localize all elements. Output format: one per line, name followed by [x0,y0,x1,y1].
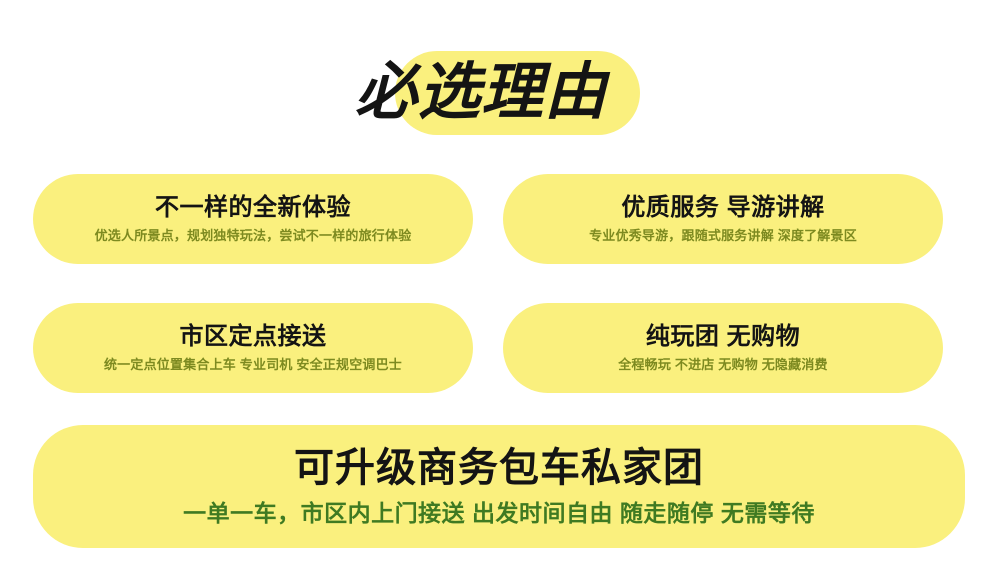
page-title-text: 必选理由 [355,40,655,145]
feature-card-city-pickup[interactable]: 市区定点接送 统一定点位置集合上车 专业司机 安全正规空调巴士 [33,303,473,393]
feature-card-quality-service[interactable]: 优质服务 导游讲解 专业优秀导游，跟随式服务讲解 深度了解景区 [503,174,943,264]
feature-card-title: 优质服务 导游讲解 [621,196,824,220]
feature-card-subtitle: 全程畅玩 不进店 无购物 无隐藏消费 [618,358,827,371]
feature-card-private-charter-upgrade[interactable]: 可升级商务包车私家团 一单一车，市区内上门接送 出发时间自由 随走随停 无需等待 [33,425,965,548]
feature-card-subtitle: 一单一车，市区内上门接送 出发时间自由 随走随停 无需等待 [183,502,815,525]
feature-card-title: 可升级商务包车私家团 [294,448,704,488]
feature-card-new-experience[interactable]: 不一样的全新体验 优选人所景点，规划独特玩法，尝试不一样的旅行体验 [33,174,473,264]
feature-card-subtitle: 统一定点位置集合上车 专业司机 安全正规空调巴士 [104,358,402,371]
feature-card-title: 纯玩团 无购物 [646,325,800,349]
page-title: 必选理由 [355,40,655,145]
promo-page: 必选理由 不一样的全新体验 优选人所景点，规划独特玩法，尝试不一样的旅行体验 优… [0,0,1000,575]
feature-card-subtitle: 专业优秀导游，跟随式服务讲解 深度了解景区 [589,229,857,242]
feature-cards-grid: 不一样的全新体验 优选人所景点，规划独特玩法，尝试不一样的旅行体验 优质服务 导… [0,160,1000,575]
page-header: 必选理由 [0,0,1000,160]
feature-card-title: 市区定点接送 [180,325,327,349]
feature-card-title: 不一样的全新体验 [155,196,351,220]
feature-card-subtitle: 优选人所景点，规划独特玩法，尝试不一样的旅行体验 [95,229,412,242]
feature-card-no-shopping[interactable]: 纯玩团 无购物 全程畅玩 不进店 无购物 无隐藏消费 [503,303,943,393]
